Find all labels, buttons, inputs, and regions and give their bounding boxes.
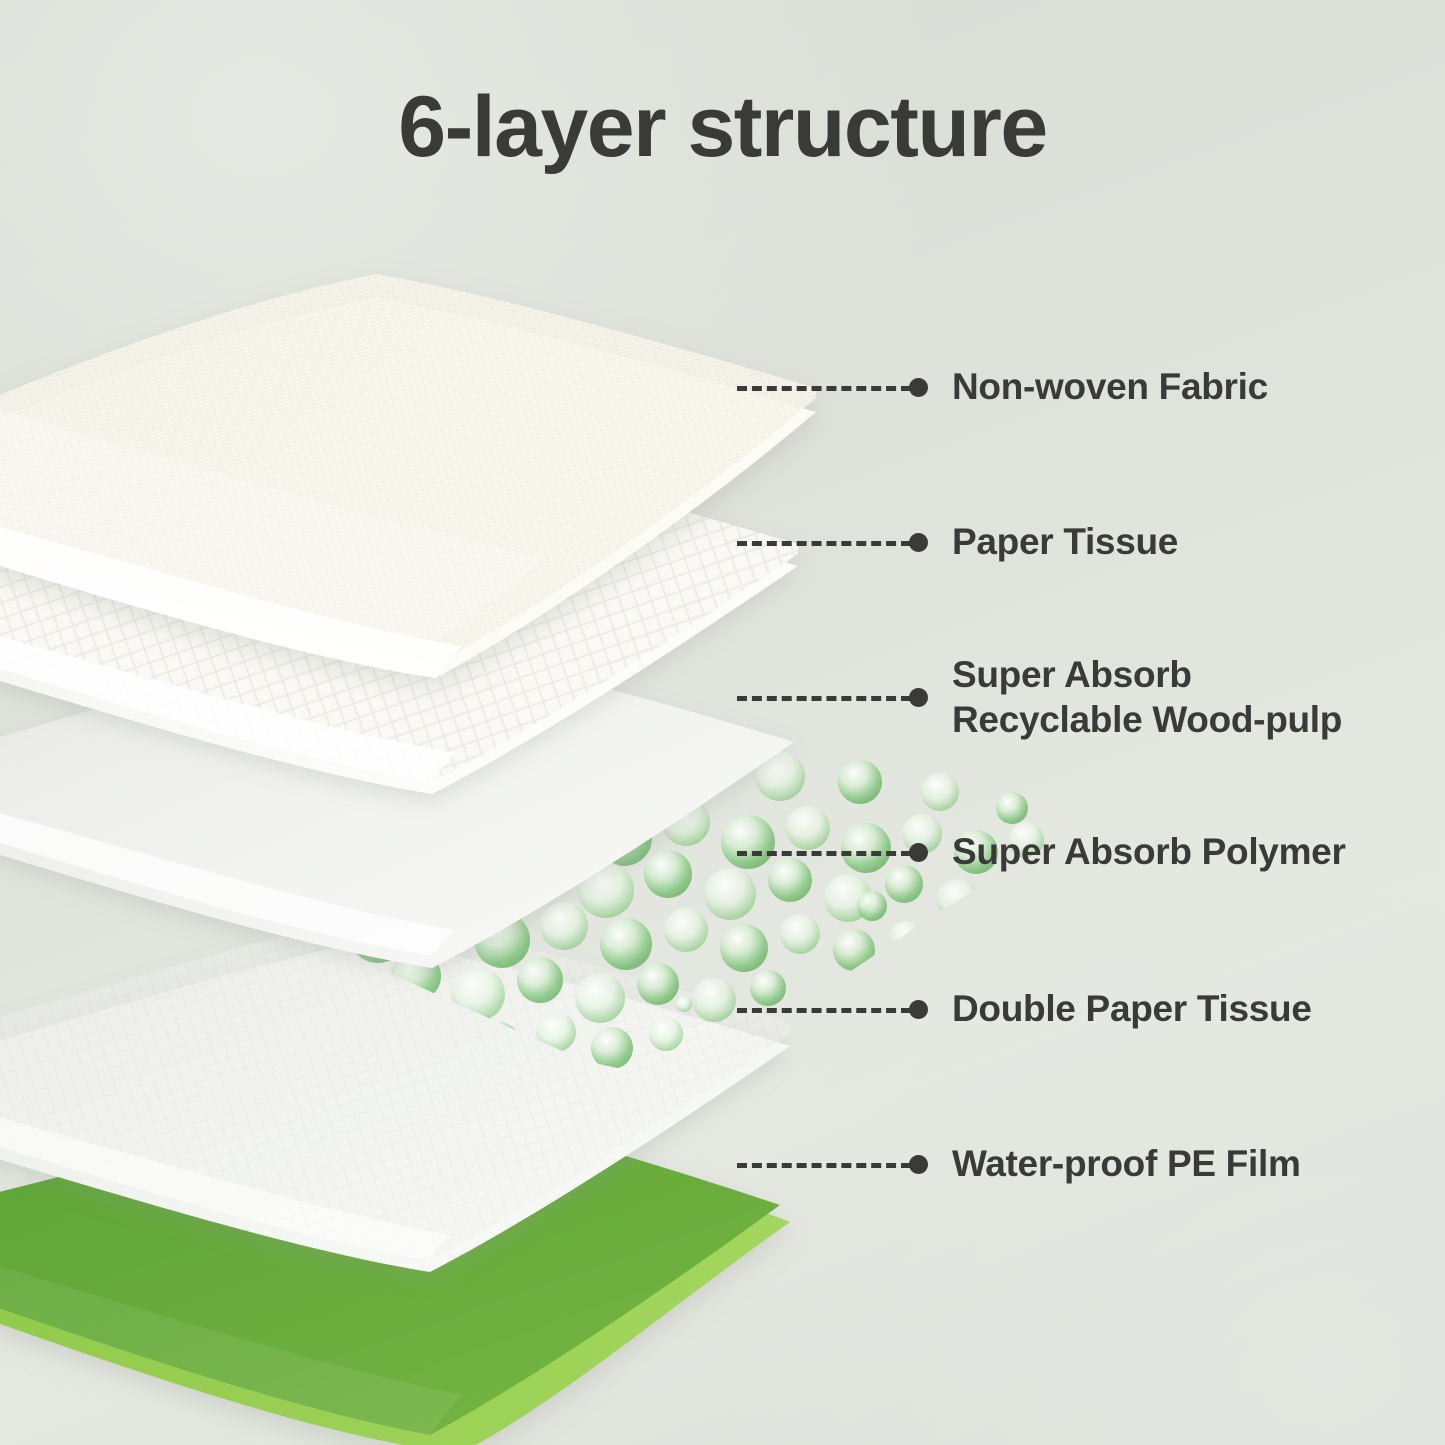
callout-label-paper-tissue: Paper Tissue bbox=[952, 519, 1178, 564]
leader-line-icon bbox=[737, 1008, 911, 1013]
leader-line-icon bbox=[737, 696, 911, 701]
product-layer-infographic: 6-layer structure bbox=[0, 0, 1445, 1445]
leader-line-icon bbox=[737, 386, 911, 391]
layer-marker-dot-icon bbox=[909, 688, 928, 707]
layer-marker-dot-icon bbox=[909, 843, 928, 862]
callout-label-non-woven-fabric: Non-woven Fabric bbox=[952, 364, 1268, 409]
leader-line-icon bbox=[737, 851, 911, 856]
layer-marker-dot-icon bbox=[909, 1155, 928, 1174]
leader-line-icon bbox=[737, 1163, 911, 1168]
callout-label-wood-pulp: Super Absorb Recyclable Wood-pulp bbox=[952, 652, 1342, 742]
layer-marker-dot-icon bbox=[909, 533, 928, 552]
layer-marker-dot-icon bbox=[909, 378, 928, 397]
layer-marker-dot-icon bbox=[909, 1000, 928, 1019]
callout-label-sap: Super Absorb Polymer bbox=[952, 829, 1346, 874]
callout-label-pe-film: Water-proof PE Film bbox=[952, 1141, 1301, 1186]
leader-line-icon bbox=[737, 541, 911, 546]
callout-label-double-paper-tissue: Double Paper Tissue bbox=[952, 986, 1312, 1031]
